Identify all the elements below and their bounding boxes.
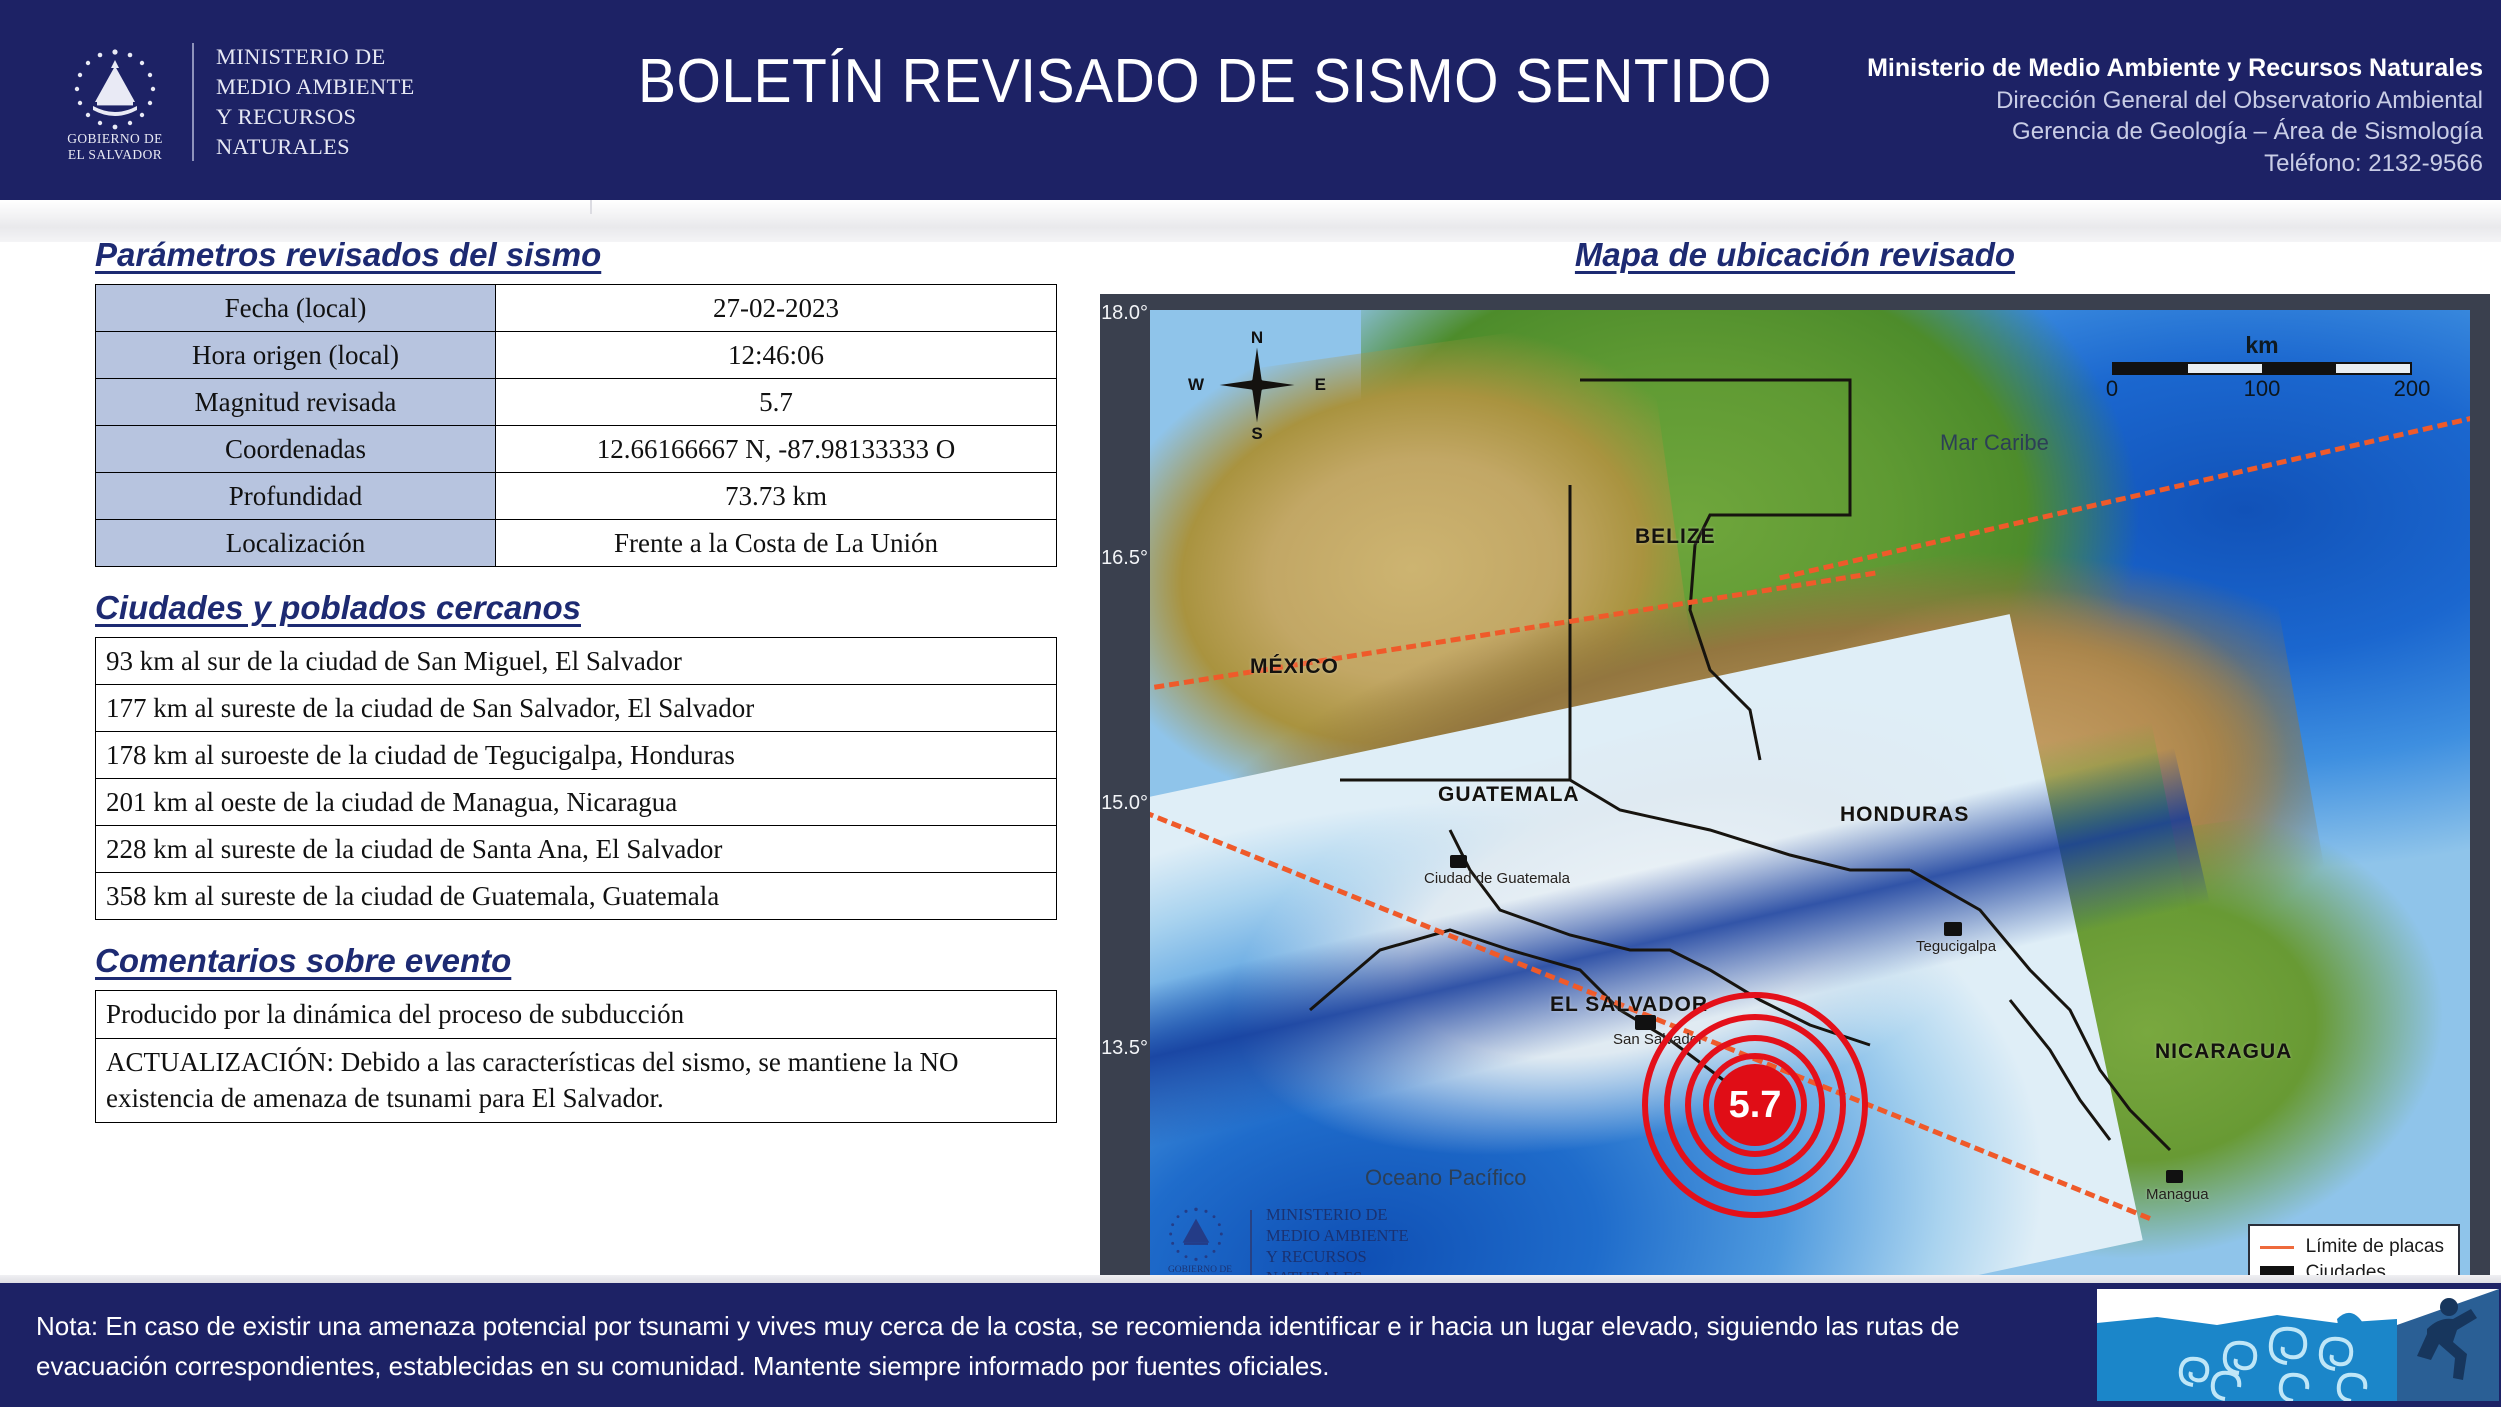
city-dot-guatemala [1450,855,1467,868]
label-mar-caribe: Mar Caribe [1940,430,2049,456]
agency-direction: Dirección General del Observatorio Ambie… [1843,85,2483,117]
scale-unit-label: km [2112,332,2412,359]
legend-row-plates: Límite de placas [2260,1234,2444,1260]
ministry-logo-block: GOBIERNO DE EL SALVADOR MINISTERIO DE ME… [60,32,530,172]
table-row: Localización Frente a la Costa de La Uni… [96,520,1057,567]
label-guatemala: GUATEMALA [1438,783,1580,807]
param-label: Hora origen (local) [96,332,496,379]
map-title-wrap: Mapa de ubicación revisado [1100,236,2490,284]
city-distance: 201 km al oeste de la ciudad de Managua,… [96,779,1057,826]
scale-tick-0: 0 [2106,376,2118,402]
scale-bar-graphic [2112,362,2412,375]
cities-table: 93 km al sur de la ciudad de San Miguel,… [95,637,1057,920]
watermark-divider [1250,1210,1252,1282]
scale-tick-200: 200 [2394,376,2431,402]
agency-phone: Teléfono: 2132-9566 [1843,148,2483,180]
page-header: GOBIERNO DE EL SALVADOR MINISTERIO DE ME… [0,0,2501,200]
table-row: Magnitud revisada 5.7 [96,379,1057,426]
tsunami-evacuation-icon [2097,1289,2499,1401]
map-scale-bar: km 0 100 200 [2112,332,2412,402]
comment-text: ACTUALIZACIÓN: Debido a las característi… [96,1038,1057,1122]
city-dot-tegucigalpa [1944,922,1962,936]
tsunami-note: Nota: En caso de existir una amenaza pot… [36,1307,2056,1386]
coat-of-arms-icon: GOBIERNO DE EL SALVADOR [60,40,170,165]
label-honduras: HONDURAS [1840,803,1969,827]
logo-divider [192,43,194,161]
cities-section-title: Ciudades y poblados cercanos [95,589,581,627]
map-terrain: N S W E [1150,310,2470,1310]
compass-rose-icon: N S W E [1202,330,1312,440]
city-distance: 228 km al sureste de la ciudad de Santa … [96,826,1057,873]
param-value: 12.66166667 N, -87.98133333 O [496,426,1057,473]
comments-table: Producido por la dinámica del proceso de… [95,990,1057,1123]
parameters-section-title: Parámetros revisados del sismo [95,236,601,274]
lat-tick-18: 18.0° [1100,302,1148,325]
list-item: Producido por la dinámica del proceso de… [96,991,1057,1039]
param-value: 73.73 km [496,473,1057,520]
lat-tick-15: 15.0° [1100,792,1148,815]
compass-west-label: W [1188,375,1204,395]
comment-text: Producido por la dinámica del proceso de… [96,991,1057,1039]
comments-section-title: Comentarios sobre evento [95,942,511,980]
param-label: Profundidad [96,473,496,520]
list-item: 228 km al sureste de la ciudad de Santa … [96,826,1057,873]
table-row: Hora origen (local) 12:46:06 [96,332,1057,379]
lat-tick-13_5: 13.5° [1100,1037,1148,1060]
agency-department: Gerencia de Geología – Área de Sismologí… [1843,116,2483,148]
comments-block: Comentarios sobre evento Producido por l… [95,942,1095,1123]
city-distance: 178 km al suroeste de la ciudad de Teguc… [96,732,1057,779]
cities-block: Ciudades y poblados cercanos 93 km al su… [95,589,1095,920]
param-value: Frente a la Costa de La Unión [496,520,1057,567]
ministry-name: MINISTERIO DE MEDIO AMBIENTE Y RECURSOS … [216,42,415,162]
param-label: Magnitud revisada [96,379,496,426]
gov-caption: GOBIERNO DE EL SALVADOR [60,131,170,163]
compass-south-label: S [1251,424,1262,444]
page-title: BOLETÍN REVISADO DE SISMO SENTIDO [612,46,1799,117]
label-mexico: MÉXICO [1250,655,1339,679]
bulletin-page: GOBIERNO DE EL SALVADOR MINISTERIO DE ME… [0,0,2501,1407]
list-item: 201 km al oeste de la ciudad de Managua,… [96,779,1057,826]
epicenter-magnitude-badge: 5.7 [1714,1064,1796,1146]
compass-north-label: N [1251,328,1263,348]
compass-east-label: E [1315,375,1326,395]
list-item: 93 km al sur de la ciudad de San Miguel,… [96,638,1057,685]
gov-line-1: GOBIERNO DE [67,131,163,146]
list-item: 358 km al sureste de la ciudad de Guatem… [96,873,1057,920]
wm-gov-1: GOBIERNO DE [1168,1265,1232,1275]
lat-tick-16_5: 16.5° [1100,547,1148,570]
param-value: 5.7 [496,379,1057,426]
param-label: Coordenadas [96,426,496,473]
table-row: Coordenadas 12.66166667 N, -87.98133333 … [96,426,1057,473]
label-nicaragua: NICARAGUA [2155,1040,2292,1064]
table-row: Profundidad 73.73 km [96,473,1057,520]
param-label: Localización [96,520,496,567]
legend-label-plates: Límite de placas [2306,1236,2444,1258]
label-tegucigalpa: Tegucigalpa [1916,938,1996,955]
map-canvas[interactable]: N S W E [1150,310,2470,1310]
city-distance: 177 km al sureste de la ciudad de San Sa… [96,685,1057,732]
label-ciudad-guatemala: Ciudad de Guatemala [1424,870,1570,887]
header-agency-info: Ministerio de Medio Ambiente y Recursos … [1843,52,2483,180]
scale-tick-100: 100 [2244,376,2281,402]
footer-separator [0,1275,2501,1283]
scale-tick-labels: 0 100 200 [2112,376,2412,402]
plate-line-swatch-icon [2260,1246,2294,1249]
list-item: ACTUALIZACIÓN: Debido a las característi… [96,1038,1057,1122]
city-distance: 93 km al sur de la ciudad de San Miguel,… [96,638,1057,685]
epicenter-marker[interactable]: 5.7 [1640,990,1870,1220]
right-column: Mapa de ubicación revisado 18.0° 16.5° 1… [1100,236,2490,1338]
gov-line-2: EL SALVADOR [68,147,162,162]
parameters-table: Fecha (local) 27-02-2023 Hora origen (lo… [95,284,1057,567]
city-dot-managua [2166,1170,2183,1183]
list-item: 177 km al sureste de la ciudad de San Sa… [96,685,1057,732]
label-managua: Managua [2146,1186,2209,1203]
page-footer: Nota: En caso de existir una amenaza pot… [0,1283,2501,1407]
city-distance: 358 km al sureste de la ciudad de Guatem… [96,873,1057,920]
location-map[interactable]: 18.0° 16.5° 15.0° 13.5° 12.0° -92.0° -90… [1100,294,2490,1338]
band-tick [590,200,592,214]
param-value: 27-02-2023 [496,285,1057,332]
label-oceano-pacifico: Oceano Pacífico [1365,1165,1526,1191]
table-row: Fecha (local) 27-02-2023 [96,285,1057,332]
param-label: Fecha (local) [96,285,496,332]
map-section-title: Mapa de ubicación revisado [1575,236,2015,274]
list-item: 178 km al suroeste de la ciudad de Teguc… [96,732,1057,779]
agency-ministry: Ministerio de Medio Ambiente y Recursos … [1843,52,2483,85]
label-belize: BELIZE [1635,525,1716,549]
param-value: 12:46:06 [496,332,1057,379]
left-column: Parámetros revisados del sismo Fecha (lo… [95,236,1095,1123]
